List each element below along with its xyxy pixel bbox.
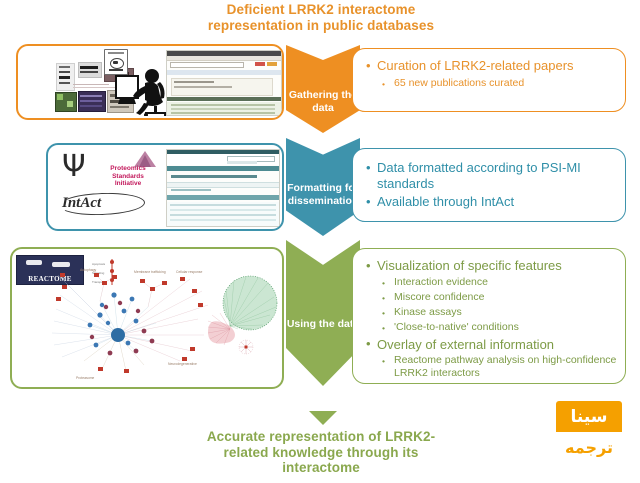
bullet: Curation of LRRK2-related papers <box>365 58 615 74</box>
watermark-logo: سینا ترجمه <box>556 401 622 463</box>
bullet: Overlay of external information <box>365 337 617 353</box>
lrrk2-interaction-network: Autophagy Membrane trafficking Cellular … <box>40 261 226 381</box>
intact-search-screenshot <box>166 149 280 227</box>
final-arrow-tip <box>309 411 337 425</box>
interactome-network-illustration: REACTOME Apoptosis Signaling Transport <box>10 247 284 389</box>
bullet: Visualization of specific features <box>365 258 617 274</box>
bullet: Kinase assays <box>381 306 617 319</box>
diagram-footer-caption: Accurate representation of LRRK2-related… <box>190 429 452 476</box>
hairball-cluster-plots <box>208 263 282 381</box>
stage-arrow-formatting: Formatting for dissemination <box>286 138 360 236</box>
watermark-line-2: ترجمه <box>556 432 622 463</box>
bullet: Available through IntAct <box>365 194 615 210</box>
stage-arrow-gathering: Gathering the data <box>286 45 360 133</box>
bullet: Miscore confidence <box>381 291 617 304</box>
bullet: 'Close-to-native' conditions <box>381 321 617 334</box>
stage-arrow-formatting-label: Formatting for dissemination <box>286 182 360 207</box>
curation-tool-screenshot <box>166 50 282 116</box>
bullet: Data formatted according to PSI-MI stand… <box>365 160 615 191</box>
stage-arrow-using-label: Using the data <box>286 318 360 331</box>
svg-text:Proteasome: Proteasome <box>76 376 94 380</box>
svg-text:Membrane trafficking: Membrane trafficking <box>134 270 166 274</box>
stage-arrow-using: Using the data <box>286 240 360 386</box>
svg-text:Neurodegenerative: Neurodegenerative <box>168 362 197 366</box>
curation-workstation-illustration <box>16 44 284 120</box>
scientist-at-computer-icon <box>114 62 170 116</box>
diagram-headline: Deficient LRRK2 interactome representati… <box>196 2 446 33</box>
psi-intact-logos-illustration: Ψ ProteomicsStandardsInitiative IntAct <box>46 143 284 231</box>
workflow-diagram: Deficient LRRK2 interactome representati… <box>0 0 640 483</box>
stage-card-using: Visualization of specific features Inter… <box>352 248 626 384</box>
watermark-line-1: سینا <box>556 401 622 432</box>
stage-card-formatting: Data formatted according to PSI-MI stand… <box>352 148 626 222</box>
bullet: Interaction evidence <box>381 276 617 289</box>
bullet: Reactome pathway analysis on high-confid… <box>381 354 617 380</box>
psi-wordmark: ProteomicsStandardsInitiative <box>96 165 160 188</box>
bullet: 65 new publications curated <box>381 77 615 90</box>
svg-text:Autophagy: Autophagy <box>80 268 97 272</box>
stage-arrow-gathering-label: Gathering the data <box>286 89 360 114</box>
svg-text:Cellular response: Cellular response <box>176 270 202 274</box>
psi-symbol-icon: Ψ <box>62 152 86 182</box>
stage-card-gathering: Curation of LRRK2-related papers 65 new … <box>352 48 626 112</box>
